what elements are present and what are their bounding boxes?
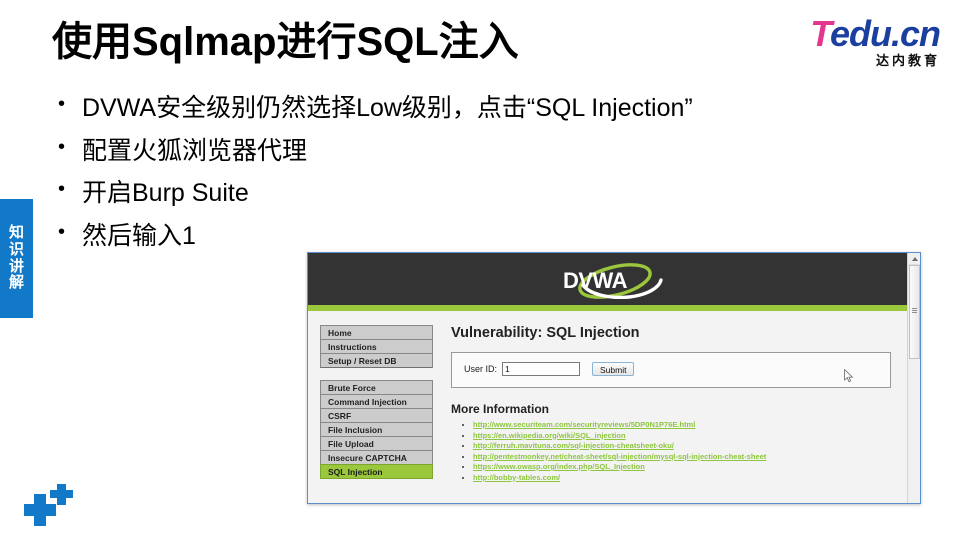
badge-char: 解 [9,275,24,292]
bullet-item: 开启Burp Suite [52,177,812,211]
sidebar-item-sql-injection[interactable]: SQL Injection [320,464,433,479]
brand-letters-cn: cn [900,13,940,54]
dvwa-logo-text: DVWA [563,268,628,293]
list-item[interactable]: http://pentestmonkey.net/cheat-sheet/sql… [473,452,891,463]
scroll-up-arrow-icon[interactable] [908,253,920,265]
slide-canvas: Tedu.cn 达内教育 使用Sqlmap进行SQL注入 DVWA安全级别仍然选… [0,0,960,540]
knowledge-badge: 知 识 讲 解 [0,199,33,318]
reference-link[interactable]: http://www.securiteam.com/securityreview… [473,420,695,429]
reference-link[interactable]: http://pentestmonkey.net/cheat-sheet/sql… [473,452,766,461]
dvwa-header: DVWA [308,253,907,305]
dvwa-page-viewport: DVWA Home Instructions Setup / Reset DB … [308,253,907,503]
sidebar-item-command-injection[interactable]: Command Injection [320,394,433,409]
badge-char: 知 [9,225,24,242]
reference-link[interactable]: http://ferruh.mavituna.com/sql-injection… [473,441,674,450]
brand-letters-edu: edu [830,13,891,54]
brand-subtitle: 达内教育 [788,54,940,67]
bullet-item: DVWA安全级别仍然选择Low级别，点击“SQL Injection” [52,92,772,126]
more-information-heading: More Information [451,402,891,416]
sidebar-item-setup-reset-db[interactable]: Setup / Reset DB [320,353,433,368]
user-id-form: User ID: Submit [451,352,891,388]
list-item[interactable]: https://www.owasp.org/index.php/SQL_Inje… [473,462,891,473]
brand-dot: . [891,13,900,54]
dvwa-screenshot-window[interactable]: DVWA Home Instructions Setup / Reset DB … [307,252,921,504]
dvwa-main-content: Vulnerability: SQL Injection User ID: Su… [433,311,907,503]
reference-link[interactable]: http://bobby-tables.com/ [473,473,560,482]
sidebar-item-file-inclusion[interactable]: File Inclusion [320,422,433,437]
badge-char: 讲 [9,259,24,276]
sidebar-item-insecure-captcha[interactable]: Insecure CAPTCHA [320,450,433,465]
sidebar-group-divider [320,367,433,380]
vertical-scrollbar[interactable] [907,253,920,503]
sidebar-item-file-upload[interactable]: File Upload [320,436,433,451]
user-id-input[interactable] [502,362,580,376]
badge-char: 识 [9,242,24,259]
reference-link[interactable]: https://www.owasp.org/index.php/SQL_Inje… [473,462,645,471]
brand-wordmark: Tedu.cn [788,16,940,52]
dvwa-logo-icon: DVWA [555,261,671,299]
dvwa-body: Home Instructions Setup / Reset DB Brute… [308,311,907,503]
reference-link-list: http://www.securiteam.com/securityreview… [451,420,891,483]
scrollbar-thumb[interactable] [909,265,920,359]
list-item[interactable]: http://www.securiteam.com/securityreview… [473,420,891,431]
submit-button[interactable]: Submit [592,362,634,376]
bullet-list: DVWA安全级别仍然选择Low级别，点击“SQL Injection” 配置火狐… [52,92,812,262]
plus-decoration-icon [8,482,74,532]
sidebar-item-instructions[interactable]: Instructions [320,339,433,354]
list-item[interactable]: https://en.wikipedia.org/wiki/SQL_inject… [473,431,891,442]
brand-logo: Tedu.cn 达内教育 [788,16,940,68]
list-item[interactable]: http://ferruh.mavituna.com/sql-injection… [473,441,891,452]
scrollbar-grip-icon [912,308,917,314]
dvwa-sidebar-nav: Home Instructions Setup / Reset DB Brute… [308,311,433,503]
mouse-cursor-icon [844,369,854,383]
user-id-label: User ID: [464,364,497,374]
reference-link[interactable]: https://en.wikipedia.org/wiki/SQL_inject… [473,431,626,440]
sidebar-item-brute-force[interactable]: Brute Force [320,380,433,395]
page-title: 使用Sqlmap进行SQL注入 [52,19,519,65]
list-item[interactable]: http://bobby-tables.com/ [473,473,891,484]
bullet-item: 配置火狐浏览器代理 [52,135,812,169]
sidebar-item-csrf[interactable]: CSRF [320,408,433,423]
brand-letter-t: T [810,13,830,54]
bullet-item: 然后输入1 [52,220,812,254]
sidebar-item-home[interactable]: Home [320,325,433,340]
vulnerability-heading: Vulnerability: SQL Injection [451,325,891,341]
